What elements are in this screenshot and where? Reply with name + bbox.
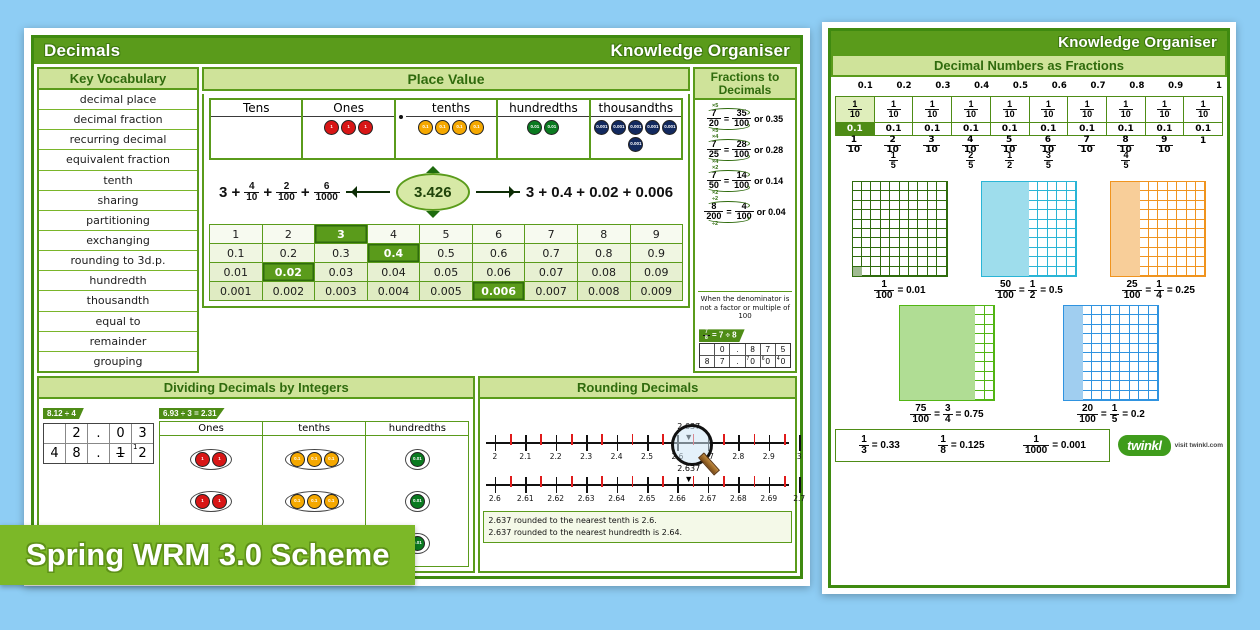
fraction: 110 xyxy=(1080,100,1094,119)
equals-sign: = xyxy=(934,409,940,420)
grid-cell xyxy=(1067,220,1076,229)
grid-cell xyxy=(947,344,956,353)
grid-cell xyxy=(928,267,937,276)
number-line-axis xyxy=(486,484,789,486)
place-value-counter: 1 xyxy=(212,494,227,509)
grid-cell xyxy=(900,334,909,343)
grid-cell xyxy=(928,210,937,219)
grid-cell xyxy=(1120,372,1129,381)
grid-cell xyxy=(1140,257,1149,266)
number-line-midpoint-tick xyxy=(784,434,786,445)
grid-cell xyxy=(1196,220,1205,229)
grid-cell xyxy=(975,391,984,400)
fractions-to-decimals-header: Fractions to Decimals xyxy=(693,67,797,100)
fraction-conversion-row: ×4725=28100or 0.28×4 xyxy=(698,134,792,165)
place-value-counter: 0.01 xyxy=(410,494,425,509)
grid-cell xyxy=(1010,257,1019,266)
grid-cell xyxy=(890,238,899,247)
fraction-numerator: 1 xyxy=(1160,100,1169,109)
fraction-numerator: 1 xyxy=(1121,100,1130,109)
grid-cell xyxy=(1196,191,1205,200)
grid-cell xyxy=(1048,220,1057,229)
tenths-bar: 1100.11100.11100.11100.11100.11100.11100… xyxy=(835,96,1223,136)
grid-cell xyxy=(909,334,918,343)
grid-cell xyxy=(1073,353,1082,362)
grid-cell xyxy=(871,229,880,238)
fraction-denominator: 10 xyxy=(925,109,939,119)
grid-cell xyxy=(1111,372,1120,381)
grid-cell xyxy=(1120,353,1129,362)
grid-cell xyxy=(1111,344,1120,353)
short-division-quotient-digit: . xyxy=(730,344,745,356)
number-grid-cell: 0.006 xyxy=(473,282,526,300)
grid-cell xyxy=(1038,257,1047,266)
grid-cell xyxy=(966,315,975,324)
grid-cell xyxy=(1038,182,1047,191)
equals-sign: = xyxy=(1101,409,1107,420)
grid-cell xyxy=(1168,210,1177,219)
grid-cell xyxy=(881,248,890,257)
grid-cell xyxy=(1111,391,1120,400)
grid-cell xyxy=(1177,257,1186,266)
grid-cell xyxy=(900,267,909,276)
fraction: 12 xyxy=(1028,280,1038,301)
grid-cell xyxy=(1158,191,1167,200)
place-value-chart: TensOnes111tenths0.10.10.10.1hundredths0… xyxy=(209,98,683,160)
grid-cell xyxy=(1067,182,1076,191)
number-line-label: 2.9 xyxy=(763,452,775,461)
fraction: 510 xyxy=(1001,136,1018,155)
place-value-column-label: hundredths xyxy=(498,100,588,117)
grid-cell xyxy=(909,229,918,238)
grid-decimal-value: = 0.5 xyxy=(1040,285,1063,296)
hundred-grid-item: 25100=14= 0.25 xyxy=(1110,181,1206,301)
grid-cell xyxy=(1187,210,1196,219)
conversion-decimal: or 0.35 xyxy=(754,114,783,124)
grid-cell xyxy=(1073,325,1082,334)
grid-cell xyxy=(982,238,991,247)
number-grid-cell: 0.01 xyxy=(210,263,263,282)
tenth-segment: 1100.1 xyxy=(1184,97,1222,135)
partition-row: 3 + 410 + 2100 + 61000 3.426 3 + 0.4 + 0… xyxy=(209,164,683,220)
grid-cell xyxy=(919,325,928,334)
tenths-bottom-label: 510 xyxy=(990,136,1029,151)
grid-cell xyxy=(975,362,984,371)
grid-cell xyxy=(1149,210,1158,219)
grid-cell xyxy=(928,362,937,371)
number-grid-cell: 8 xyxy=(578,225,631,244)
grid-cell xyxy=(1121,201,1130,210)
grid-cell xyxy=(909,267,918,276)
place-value-column: Place Value TensOnes111tenths0.10.10.10.… xyxy=(202,67,690,373)
grid-cell xyxy=(1001,220,1010,229)
grid-cell xyxy=(1083,381,1092,390)
place-value-column-hundredths: hundredths0.010.01 xyxy=(498,100,590,158)
tenth-segment: 1100.1 xyxy=(952,97,991,135)
grid-cell xyxy=(1010,248,1019,257)
grid-cell xyxy=(1120,306,1129,315)
grid-cell xyxy=(937,267,946,276)
grid-cell xyxy=(1187,220,1196,229)
fraction-denominator: 1000 xyxy=(1023,445,1049,456)
grid-cell xyxy=(862,267,871,276)
grid-cell xyxy=(1168,220,1177,229)
grid-cell xyxy=(1140,182,1149,191)
bus-stop-dividend-digit: 12 xyxy=(132,444,153,463)
grid-cell xyxy=(909,353,918,362)
grid-cell xyxy=(928,334,937,343)
grouping-column-label: Ones xyxy=(160,422,262,436)
fraction: 110 xyxy=(1157,100,1171,119)
grid-cell xyxy=(1073,362,1082,371)
grid-cell xyxy=(991,210,1000,219)
grid-cell xyxy=(1111,353,1120,362)
fraction-denominator: 8 xyxy=(938,445,948,456)
grid-cell xyxy=(956,362,965,371)
grid-cell xyxy=(985,306,994,315)
grid-cell xyxy=(938,315,947,324)
grid-cell xyxy=(1048,238,1057,247)
tenths-bottom-label: 210 xyxy=(874,136,913,151)
fraction: 34 xyxy=(943,404,953,425)
grid-cell xyxy=(1130,257,1139,266)
grid-cell xyxy=(1168,229,1177,238)
grid-cell xyxy=(982,201,991,210)
counter-group: 0.01 xyxy=(405,491,430,512)
place-value-header: Place Value xyxy=(202,67,690,91)
grid-cell xyxy=(1038,220,1047,229)
tenth-segment: 1100.1 xyxy=(1030,97,1069,135)
grid-cell xyxy=(1149,372,1158,381)
grid-cell xyxy=(938,306,947,315)
grid-cell xyxy=(1120,381,1129,390)
counter-group: 11 xyxy=(190,449,232,470)
grid-cell xyxy=(1001,210,1010,219)
grid-cell xyxy=(975,353,984,362)
grid-cell xyxy=(1177,229,1186,238)
grid-cell xyxy=(956,334,965,343)
grid-cell xyxy=(1187,248,1196,257)
tenth-segment-fraction: 110 xyxy=(1184,97,1222,122)
fraction: 13 xyxy=(859,435,869,456)
grid-cell xyxy=(1139,362,1148,371)
number-line-label: 2.2 xyxy=(550,452,562,461)
fraction-denominator: 5 xyxy=(1121,160,1130,170)
short-division-carry: 7 xyxy=(747,356,750,362)
grid-cell xyxy=(1010,229,1019,238)
tenth-segment-decimal: 0.1 xyxy=(836,122,874,135)
grid-cell xyxy=(1149,325,1158,334)
grid-cell xyxy=(853,220,862,229)
grid-cell xyxy=(938,372,947,381)
grid-cell xyxy=(900,372,909,381)
grid-cell xyxy=(1057,248,1066,257)
grid-cell xyxy=(1038,238,1047,247)
fraction-numerator: 3 xyxy=(943,404,953,414)
vocabulary-item: partitioning xyxy=(39,211,197,231)
grouping-tag: 6.93 ÷ 3 = 2.31 xyxy=(159,408,225,419)
fraction: 110 xyxy=(1119,100,1133,119)
grid-cell xyxy=(909,220,918,229)
grid-cell xyxy=(909,372,918,381)
number-line-tick xyxy=(647,477,649,493)
fraction: 78 xyxy=(703,330,710,341)
grid-cell xyxy=(1121,257,1130,266)
number-line-label: 2.66 xyxy=(669,494,686,503)
grid-cell xyxy=(1057,201,1066,210)
short-division-dividend-digit: 70 xyxy=(746,356,761,367)
grid-cell xyxy=(890,267,899,276)
grid-cell xyxy=(909,201,918,210)
hundred-grids-row-1: 1100= 0.0150100=12= 0.525100=14= 0.25 xyxy=(835,181,1223,301)
right-organiser-label: Knowledge Organiser xyxy=(1058,34,1217,51)
grid-cell xyxy=(1120,391,1129,400)
place-value-counter: 0.1 xyxy=(307,494,322,509)
grid-cell xyxy=(966,334,975,343)
grid-cell xyxy=(947,325,956,334)
vocabulary-item: equivalent fraction xyxy=(39,150,197,170)
bus-stop-tag: 8.12 ÷ 4 xyxy=(43,408,84,419)
grid-cell xyxy=(1121,267,1130,276)
fraction: 410 xyxy=(244,182,259,203)
grid-cell xyxy=(947,334,956,343)
grid-cell xyxy=(1111,257,1120,266)
grid-cell xyxy=(900,210,909,219)
fraction: 110 xyxy=(1196,100,1210,119)
number-grid-row: 123456789 xyxy=(210,225,682,244)
grid-cell xyxy=(1149,344,1158,353)
fraction: 18 xyxy=(938,435,948,456)
grid-cell xyxy=(919,306,928,315)
grid-cell xyxy=(900,325,909,334)
tenth-segment: 1100.1 xyxy=(836,97,875,135)
grid-cell xyxy=(975,306,984,315)
grid-cell xyxy=(1111,220,1120,229)
grid-cell xyxy=(928,201,937,210)
grid-cell xyxy=(966,353,975,362)
fraction-denominator: 10 xyxy=(1001,145,1018,155)
number-line-tick xyxy=(495,477,497,493)
rounding-panel: Rounding Decimals 22.12.22.32.42.52.62.7… xyxy=(478,376,797,573)
number-line-label: 2.1 xyxy=(519,452,531,461)
fraction-conversion-row: ×2750=14100or 0.14×2 xyxy=(698,165,792,196)
grid-cell xyxy=(1001,238,1010,247)
vocabulary-item: decimal place xyxy=(39,90,197,110)
grid-cell xyxy=(975,334,984,343)
grid-cell xyxy=(1177,182,1186,191)
number-line-tenths: 22.12.22.32.42.52.62.72.82.932.637▼ xyxy=(482,426,793,466)
place-value-counter: 0.1 xyxy=(324,494,339,509)
grid-cell xyxy=(1168,248,1177,257)
tenth-segment-decimal: 0.1 xyxy=(991,122,1029,135)
bus-stop-dividend-row: 48.112 xyxy=(44,444,153,463)
number-grid-cell: 0.009 xyxy=(631,282,683,300)
fraction-numerator: 1 xyxy=(1028,280,1038,290)
decimal-fact: 11000= 0.001 xyxy=(1023,435,1086,456)
right-body: 0.10.20.30.40.50.60.70.80.91 1100.11100.… xyxy=(831,77,1227,585)
grid-cell xyxy=(1121,191,1130,200)
grid-cell xyxy=(991,267,1000,276)
grid-cell xyxy=(1083,306,1092,315)
place-value-counter: 0.1 xyxy=(452,120,467,135)
short-division-dividend-digit: 40 xyxy=(776,356,790,367)
grid-cell xyxy=(1139,381,1148,390)
place-value-counter: 0.1 xyxy=(324,452,339,467)
left-page-title: Decimals xyxy=(44,41,120,61)
grid-cell xyxy=(928,391,937,400)
grid-cell xyxy=(1168,191,1177,200)
fraction-denominator: 100 xyxy=(276,192,297,203)
grid-cell xyxy=(956,306,965,315)
fraction-denominator: 10 xyxy=(964,109,978,119)
fraction-numerator: 4 xyxy=(965,136,975,145)
grid-cell xyxy=(938,362,947,371)
grid-cell xyxy=(1102,315,1111,324)
grid-cell xyxy=(918,201,927,210)
grid-cell xyxy=(1067,257,1076,266)
fraction-numerator: 6 xyxy=(1043,136,1053,145)
rounding-header: Rounding Decimals xyxy=(480,378,795,399)
grid-cell xyxy=(947,362,956,371)
grid-cell xyxy=(938,325,947,334)
grid-cell xyxy=(947,315,956,324)
tenths-bottom-label: 110 xyxy=(835,136,874,151)
number-line-midpoint-tick xyxy=(784,476,786,487)
grid-cell xyxy=(1048,248,1057,257)
left-page: Decimals Knowledge Organiser Key Vocabul… xyxy=(24,28,810,586)
place-value-counters: 0.010.01 xyxy=(498,117,588,158)
tenth-segment-fraction: 110 xyxy=(1068,97,1106,122)
grid-cell xyxy=(1130,182,1139,191)
grid-cell xyxy=(1038,191,1047,200)
fractions-to-decimals-body: ×5720=35100or 0.35×5×4725=28100or 0.28×4… xyxy=(693,100,797,373)
grid-cell xyxy=(1083,344,1092,353)
grid-cell xyxy=(1111,315,1120,324)
grid-cell xyxy=(1029,182,1038,191)
fraction: 110 xyxy=(848,100,862,119)
bottom-facts: 13= 0.3318= 0.12511000= 0.001 xyxy=(835,429,1110,462)
hundred-grid-caption: 50100=12= 0.5 xyxy=(995,280,1063,301)
grid-cell xyxy=(1168,182,1177,191)
hundred-grid xyxy=(1110,181,1206,277)
grouping-column-label: hundredths xyxy=(366,422,468,436)
grid-cell xyxy=(1073,391,1082,400)
hundred-grid-item: 20100=15= 0.2 xyxy=(1063,305,1159,425)
grid-cell xyxy=(890,201,899,210)
tenth-segment-fraction: 110 xyxy=(836,97,874,122)
grid-cell xyxy=(1048,267,1057,276)
tenths-top-label: 0.4 xyxy=(951,81,990,96)
grid-cell xyxy=(1177,201,1186,210)
grid-decimal-value: = 0.01 xyxy=(897,285,925,296)
tenth-segment: 1100.1 xyxy=(1146,97,1185,135)
number-line-midpoint-tick xyxy=(601,434,603,445)
grid-cell xyxy=(975,344,984,353)
grid-cell xyxy=(1111,306,1120,315)
fraction-conversion-row: ×5720=35100or 0.35×5 xyxy=(698,103,792,134)
place-value-column-label: Tens xyxy=(211,100,301,117)
grid-cell xyxy=(909,362,918,371)
place-value-counter: 0.1 xyxy=(290,494,305,509)
tenth-segment-fraction: 110 xyxy=(1146,97,1184,122)
fraction-denominator: 10 xyxy=(962,145,979,155)
grid-cell xyxy=(1083,353,1092,362)
arrow-right-icon xyxy=(476,191,520,193)
number-grid-row: 0.0010.0020.0030.0040.0050.0060.0070.008… xyxy=(210,282,682,300)
grid-cell xyxy=(1083,334,1092,343)
grid-cell xyxy=(937,191,946,200)
grid-cell xyxy=(1092,381,1101,390)
tenths-bottom-fractions: 1102103104105106107108109101 xyxy=(835,136,1223,151)
grid-cell xyxy=(1092,362,1101,371)
grid-cell xyxy=(1092,372,1101,381)
number-line-midpoint-tick xyxy=(540,434,542,445)
grid-cell xyxy=(985,353,994,362)
grid-cell xyxy=(1064,372,1073,381)
grid-cell xyxy=(1196,210,1205,219)
twinkl-url: visit twinkl.com xyxy=(1175,442,1223,449)
grid-cell xyxy=(1048,182,1057,191)
grid-cell xyxy=(1149,220,1158,229)
vocabulary-item: sharing xyxy=(39,191,197,211)
grid-cell xyxy=(909,344,918,353)
number-grid-row: 0.010.020.030.040.050.060.070.080.09 xyxy=(210,263,682,282)
fraction-numerator: 75 xyxy=(913,404,928,414)
grid-cell xyxy=(862,248,871,257)
left-sheet: Decimals Knowledge Organiser Key Vocabul… xyxy=(31,35,803,579)
grid-cell xyxy=(1067,267,1076,276)
fraction-denominator: 5 xyxy=(1110,414,1120,425)
grid-cell xyxy=(1064,362,1073,371)
grid-cell xyxy=(890,257,899,266)
short-division-tag: 78 = 7 ÷ 8 xyxy=(699,325,791,343)
grid-cell xyxy=(937,238,946,247)
grid-cell xyxy=(982,229,991,238)
bus-stop-quotient-digit: . xyxy=(88,424,110,444)
number-line-tick xyxy=(738,435,740,451)
grid-cell xyxy=(909,248,918,257)
grid-cell xyxy=(1111,325,1120,334)
grid-cell xyxy=(1177,210,1186,219)
fraction-denominator: 10 xyxy=(1156,145,1173,155)
fraction: 110 xyxy=(887,100,901,119)
grid-cell xyxy=(1092,325,1101,334)
fraction-numerator: 1 xyxy=(1110,404,1120,414)
grid-cell xyxy=(1130,210,1139,219)
fraction-denominator: 10 xyxy=(1157,109,1171,119)
grid-decimal-value: = 0.2 xyxy=(1122,409,1145,420)
number-line-label: 2.68 xyxy=(730,494,747,503)
grid-cell xyxy=(982,182,991,191)
grid-cell xyxy=(928,191,937,200)
grid-cell xyxy=(1149,391,1158,400)
whole-label: 1 xyxy=(1200,136,1206,146)
grid-cell xyxy=(1073,372,1082,381)
fraction-numerator: 50 xyxy=(998,280,1013,290)
fraction-numerator: 2 xyxy=(888,136,898,145)
decimal-fact-value: = 0.001 xyxy=(1052,440,1086,451)
number-line-midpoint-tick xyxy=(662,476,664,487)
short-division-carry: 4 xyxy=(777,356,780,362)
number-grid-cell: 0.03 xyxy=(315,263,368,282)
grid-cell xyxy=(1140,191,1149,200)
grid-cell xyxy=(1120,344,1129,353)
grid-cell xyxy=(1102,325,1111,334)
grid-cell xyxy=(1057,257,1066,266)
grid-cell xyxy=(918,182,927,191)
grid-cell xyxy=(938,353,947,362)
place-value-counter: 0.01 xyxy=(410,452,425,467)
